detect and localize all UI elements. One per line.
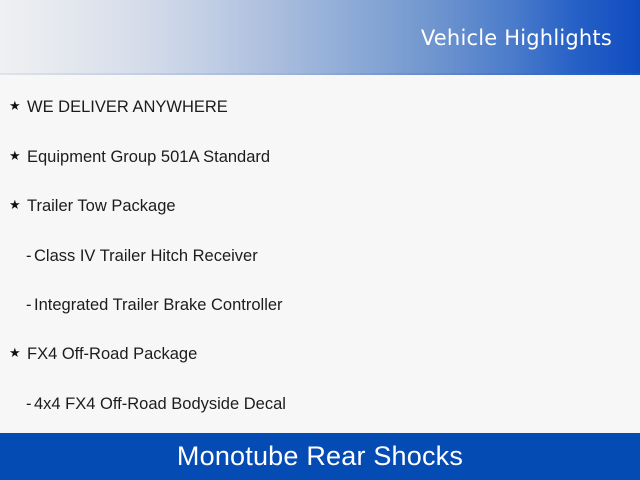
highlight-item-label: FX4 Off-Road Package [27, 342, 197, 366]
dash-bullet-icon: - [26, 392, 34, 416]
star-bullet-icon: ★ [9, 342, 27, 366]
highlight-item: ★FX4 Off-Road Package [0, 342, 640, 366]
highlight-item-label: Trailer Tow Package [27, 194, 176, 218]
highlight-sub-item: -Class IV Trailer Hitch Receiver [0, 244, 640, 268]
highlight-item: ★Trailer Tow Package [0, 194, 640, 218]
highlight-item-label: Equipment Group 501A Standard [27, 145, 270, 169]
star-bullet-icon: ★ [9, 145, 27, 169]
highlight-item-label: Class IV Trailer Hitch Receiver [34, 244, 258, 268]
highlight-item: ★Equipment Group 501A Standard [0, 145, 640, 169]
dash-bullet-icon: - [26, 293, 34, 317]
bottom-banner: Monotube Rear Shocks [0, 433, 640, 480]
highlight-sub-item: -4x4 FX4 Off-Road Bodyside Decal [0, 392, 640, 416]
page-title: Vehicle Highlights [421, 26, 612, 50]
highlight-item-label: 4x4 FX4 Off-Road Bodyside Decal [34, 392, 286, 416]
highlight-item-label: Integrated Trailer Brake Controller [34, 293, 283, 317]
bottom-banner-text: Monotube Rear Shocks [177, 441, 463, 472]
highlight-sub-item: -Integrated Trailer Brake Controller [0, 293, 640, 317]
star-bullet-icon: ★ [9, 194, 27, 218]
dash-bullet-icon: - [26, 244, 34, 268]
vehicle-highlights-slide: Vehicle Highlights ★WE DELIVER ANYWHERE★… [0, 0, 640, 480]
highlight-item-label: WE DELIVER ANYWHERE [27, 95, 228, 119]
highlights-list: ★WE DELIVER ANYWHERE★Equipment Group 501… [0, 75, 640, 433]
highlight-item: ★WE DELIVER ANYWHERE [0, 95, 640, 119]
star-bullet-icon: ★ [9, 95, 27, 119]
